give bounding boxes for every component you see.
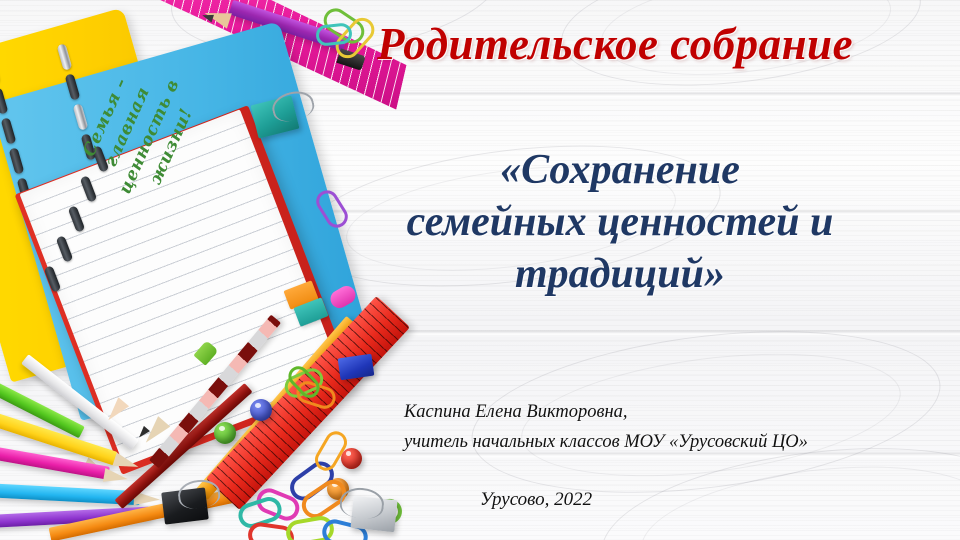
slide-subtitle: «Сохранение семейных ценностей и традици…	[300, 144, 940, 300]
subtitle-line-1: «Сохранение	[300, 144, 940, 196]
author-block: Каспина Елена Викторовна, учитель началь…	[404, 398, 949, 458]
subtitle-line-3: традиций»	[300, 248, 940, 300]
subtitle-line-2: семейных ценностей и	[300, 196, 940, 248]
author-position: учитель начальных классов МОУ «Урусовски…	[404, 428, 949, 458]
glass-marble-green	[214, 422, 236, 444]
author-name: Каспина Елена Викторовна,	[404, 398, 949, 428]
glass-marble-blue	[250, 399, 272, 421]
slide-title: Родительское собрание	[300, 22, 930, 67]
presentation-slide: Семья – главная ценность в жизни!	[0, 0, 960, 540]
blue-binder-clip	[338, 354, 375, 381]
glass-marble-red	[341, 448, 362, 469]
place-and-year: Урусово, 2022	[480, 489, 592, 511]
